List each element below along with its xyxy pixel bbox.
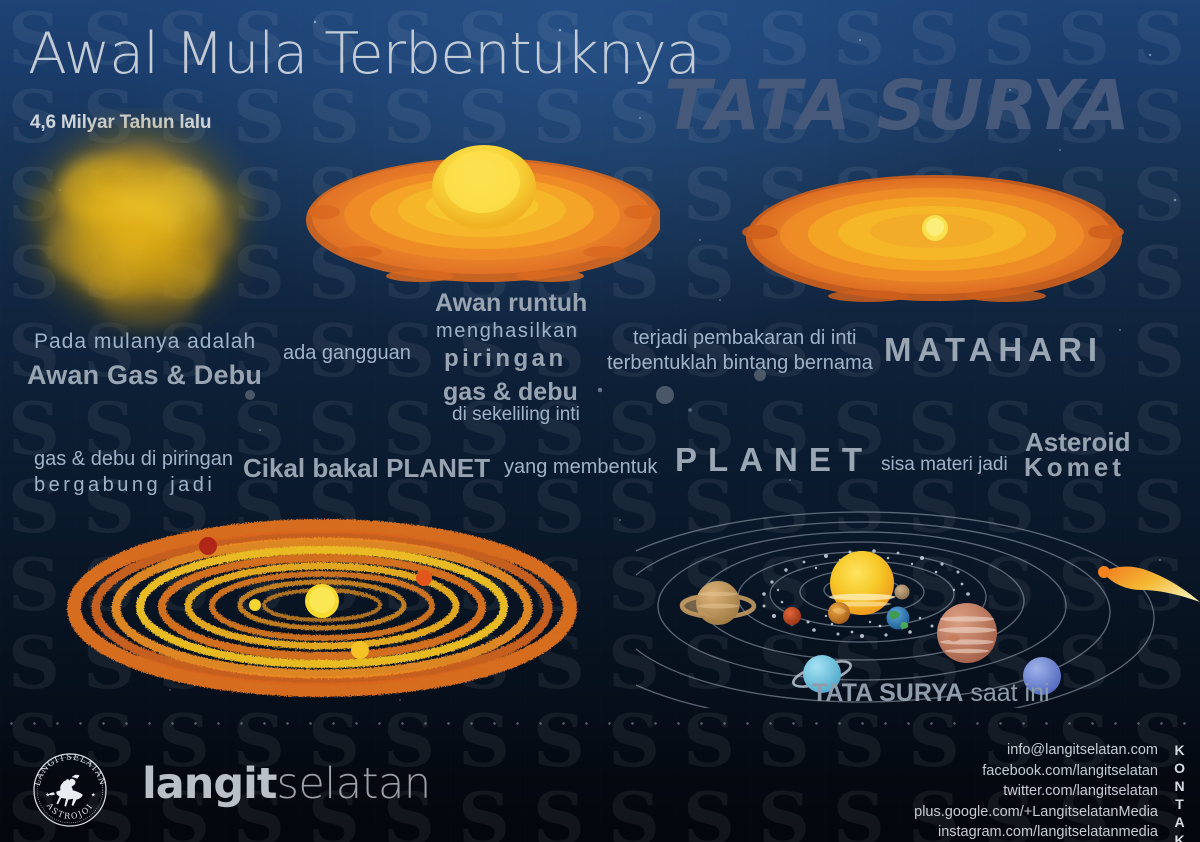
kontak-letter-o: O (1174, 760, 1186, 778)
label-matahari: MATAHARI (884, 331, 1103, 369)
caption-collapse-line4: gas & debu (443, 378, 578, 407)
protoplanet-rings-illustration (60, 505, 580, 710)
contact-facebook[interactable]: facebook.com/langitselatan (914, 761, 1158, 782)
caption-collapse-line1: Awan runtuh (435, 289, 587, 318)
caption-star-line1: terjadi pembakaran di inti (633, 327, 856, 350)
langitselatan-logo-seal[interactable]: LANGITSELATAN ASTROJOI ★ ★ (30, 750, 110, 830)
caption-planets-connector: yang membentuk (504, 456, 657, 479)
contact-list: info@langitselatan.com facebook.com/lang… (914, 740, 1158, 842)
contact-instagram[interactable]: instagram.com/langitselatanmedia (914, 822, 1158, 842)
contact-email[interactable]: info@langitselatan.com (914, 740, 1158, 761)
planet-earth (887, 607, 910, 630)
kontak-letter-a: A (1174, 814, 1186, 832)
planet-venus (828, 602, 850, 624)
brand-wordmark-bold: langit (142, 759, 276, 809)
caption-leftovers-connector: sisa materi jadi (881, 454, 1008, 476)
kontak-letter-n: N (1174, 778, 1186, 796)
label-planet: PLANET (675, 441, 873, 479)
caption-disturbance: ada gangguan (283, 342, 411, 365)
gas-dust-cloud-illustration (8, 108, 298, 348)
solar-system-today-illustration (636, 498, 1200, 708)
title-accent-tata-surya: TATA SURYA (664, 72, 1131, 141)
caption-accretion-line2: bergabung jadi (34, 474, 215, 497)
planet-jupiter (937, 603, 997, 663)
contact-twitter[interactable]: twitter.com/langitselatan (914, 781, 1158, 802)
logo-centaur-figure (48, 775, 82, 807)
comet (1098, 566, 1200, 602)
infographic-poster: S Awal Mula Terbentuknya 4,6 Milyar Tahu… (0, 0, 1200, 842)
label-cikal-bakal-planet: Cikal bakal PLANET (243, 453, 490, 484)
svg-text:★: ★ (91, 791, 96, 798)
brand-wordmark[interactable]: langitselatan (142, 763, 431, 806)
label-komet: Komet (1024, 452, 1125, 483)
protoplanetary-disk-collapse-illustration (300, 140, 660, 305)
label-tata-surya-today-bold: TATA SURYA (812, 679, 963, 707)
planet-mercury (895, 585, 910, 600)
label-tata-surya-today-light: saat ini (970, 679, 1049, 707)
caption-star-line2: terbentuklah bintang bernama (607, 352, 873, 375)
caption-collapse-line5: di sekeliling inti (452, 404, 580, 426)
planet-saturn (680, 581, 754, 625)
page-title: Awal Mula Terbentuknya (28, 26, 700, 83)
contact-googleplus[interactable]: plus.google.com/+LangitselatanMedia (914, 802, 1158, 823)
kontak-letter-k2: K (1174, 832, 1186, 842)
star-ignition-disk-illustration (738, 168, 1128, 308)
footer-divider (0, 722, 1200, 725)
kontak-vertical-label: K O N T A K (1174, 742, 1186, 842)
kontak-letter-k1: K (1174, 742, 1186, 760)
kontak-letter-t: T (1174, 796, 1186, 814)
planet-mars (783, 607, 801, 625)
label-tata-surya-today: TATA SURYA saat ini (812, 679, 1050, 708)
caption-accretion-line1: gas & debu di piringan (34, 448, 233, 471)
caption-collapse-line2: menghasilkan (436, 320, 579, 343)
caption-collapse-line3: piringan (444, 345, 567, 373)
caption-cloud-line1: Pada mulanya adalah (34, 330, 256, 354)
caption-cloud-line2: Awan Gas & Debu (27, 360, 262, 391)
brand-wordmark-light: selatan (276, 759, 430, 809)
